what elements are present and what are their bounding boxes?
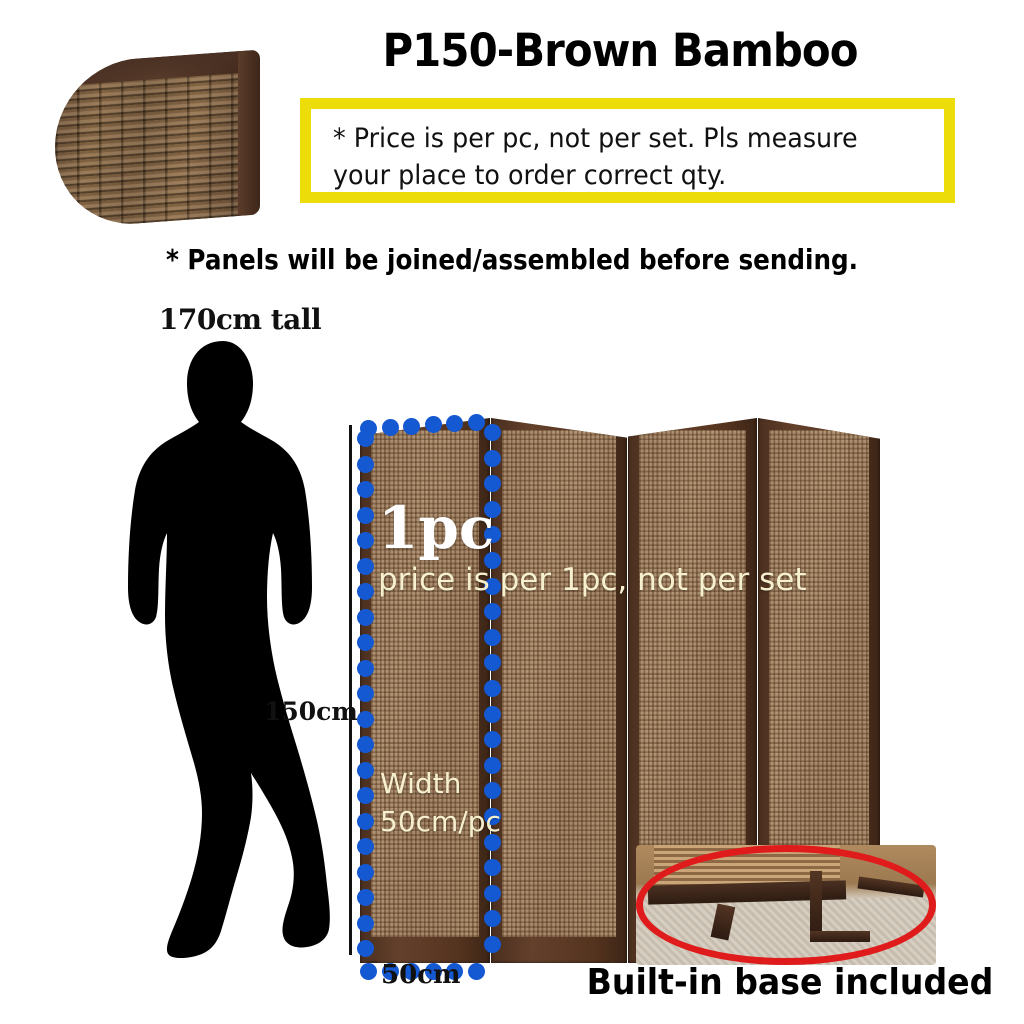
outline-dot bbox=[357, 762, 374, 779]
width-note-line-1: Width bbox=[380, 765, 501, 803]
outline-dot bbox=[484, 680, 501, 697]
per-piece-note: price is per 1pc, not per set bbox=[378, 562, 806, 598]
outline-dot bbox=[403, 418, 420, 435]
outline-dot bbox=[484, 731, 501, 748]
outline-dot bbox=[382, 419, 399, 436]
outline-dot bbox=[446, 415, 463, 432]
outline-dot bbox=[357, 889, 374, 906]
outline-dot bbox=[484, 885, 501, 902]
outline-dot bbox=[357, 456, 374, 473]
outline-dot bbox=[484, 654, 501, 671]
outline-dot bbox=[357, 583, 374, 600]
panel-2 bbox=[491, 418, 627, 963]
thumbnail-right-rail bbox=[238, 49, 260, 216]
base-highlight-ellipse bbox=[636, 845, 936, 965]
outline-dot bbox=[357, 507, 374, 524]
outline-dot bbox=[360, 420, 377, 437]
outline-dot bbox=[357, 711, 374, 728]
outline-dot bbox=[484, 936, 501, 953]
outline-dot bbox=[357, 736, 374, 753]
outline-dot bbox=[360, 963, 377, 980]
built-in-base-label: Built-in base included bbox=[578, 962, 1001, 1003]
bamboo-weave-texture bbox=[55, 67, 240, 230]
price-notice-line-2: your place to order correct qty. bbox=[333, 157, 907, 194]
outline-dot bbox=[357, 787, 374, 804]
outline-dot bbox=[357, 915, 374, 932]
outline-dot bbox=[357, 660, 374, 677]
outline-dot bbox=[357, 609, 374, 626]
outline-dot bbox=[425, 416, 442, 433]
person-height-label: 170cm tall bbox=[120, 303, 360, 336]
outline-dot bbox=[357, 940, 374, 957]
outline-dot bbox=[484, 706, 501, 723]
outline-dot bbox=[357, 864, 374, 881]
panel-2-weave bbox=[502, 430, 616, 937]
panel-outline-dots-left bbox=[357, 430, 375, 970]
outline-dot bbox=[357, 634, 374, 651]
width-dimension-label: 50cm bbox=[381, 960, 461, 990]
price-notice-box: * Price is per pc, not per set. Pls meas… bbox=[300, 98, 955, 203]
outline-dot bbox=[484, 629, 501, 646]
outline-dot bbox=[357, 481, 374, 498]
outline-dot bbox=[468, 963, 485, 980]
product-title: P150-Brown Bamboo bbox=[322, 26, 917, 78]
outline-dot bbox=[357, 685, 374, 702]
height-dimension-label: 150cm bbox=[264, 697, 358, 726]
panel-outline-dots-top bbox=[360, 414, 488, 432]
height-measure-line bbox=[349, 425, 352, 955]
product-thumbnail-image bbox=[55, 57, 260, 222]
thumbnail-clip bbox=[55, 49, 260, 229]
outline-dot bbox=[468, 414, 485, 431]
outline-dot bbox=[484, 450, 501, 467]
infographic-root: P150-Brown Bamboo * Price is per pc, not… bbox=[0, 0, 1024, 1024]
assembly-note: * Panels will be joined/assembled before… bbox=[61, 243, 962, 277]
width-note-line-2: 50cm/pc bbox=[380, 803, 501, 841]
price-notice-line-1: * Price is per pc, not per set. Pls meas… bbox=[333, 120, 907, 157]
outline-dot bbox=[484, 859, 501, 876]
outline-dot bbox=[484, 603, 501, 620]
one-piece-badge: 1pc bbox=[378, 499, 494, 557]
person-silhouette-icon bbox=[95, 335, 360, 960]
width-note: Width 50cm/pc bbox=[380, 765, 501, 841]
outline-dot bbox=[357, 838, 374, 855]
outline-dot bbox=[484, 910, 501, 927]
outline-dot bbox=[484, 475, 501, 492]
outline-dot bbox=[357, 532, 374, 549]
outline-dot bbox=[357, 813, 374, 830]
outline-dot bbox=[357, 558, 374, 575]
